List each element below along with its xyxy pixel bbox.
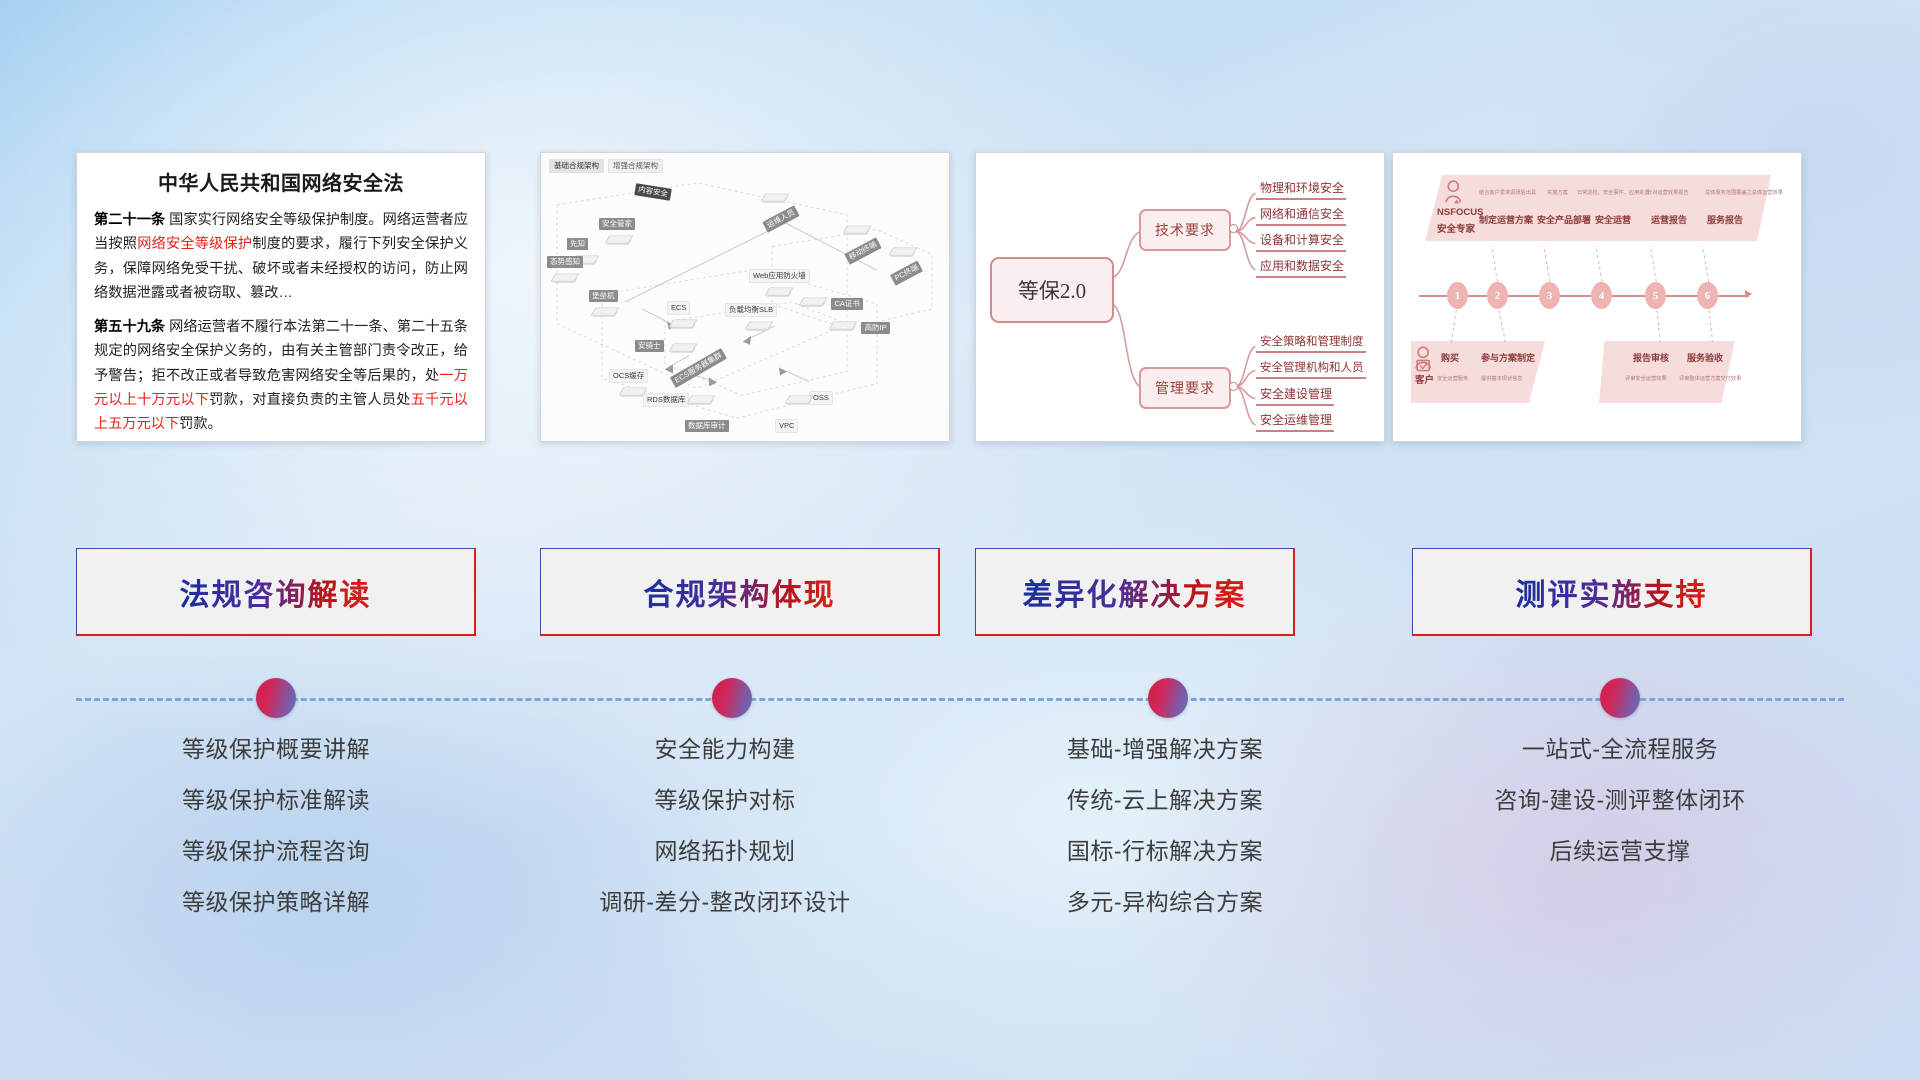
nsfocus-top-sub-5: 总体服务范围覆盖之总体运营效果 — [1705, 189, 1783, 196]
law-article-21-highlight: 网络安全等级保护 — [137, 236, 252, 252]
headline-label-2: 合规架构体现 — [644, 570, 836, 614]
arch-node-security-butler: 安全管家 — [599, 213, 635, 250]
arch-node-ops-personnel: 运维人员 — [763, 191, 799, 226]
nsfocus-bottom-role: 客户 — [1415, 372, 1434, 386]
nsfocus-step-4: 4 — [1591, 282, 1612, 309]
nsfocus-top-sub-3: 日常巡检、安全事件、应用处置 — [1577, 189, 1650, 196]
arch-node-ecs: ECS — [667, 297, 697, 334]
arch-node-bastion-host: 堡垒机 — [589, 285, 619, 322]
list-item: 多元-异构综合方案 — [945, 891, 1385, 914]
arch-node-rds: RDS数据库 — [643, 389, 715, 410]
headline-box-regulation-consulting[interactable]: 法规咨询解读 — [76, 548, 476, 636]
nsfocus-top-sub-4: 针对运营效果报告 — [1647, 189, 1689, 196]
list-item: 等级保护策略详解 — [56, 891, 496, 914]
mindmap-leaf-ops-mgmt: 安全运维管理 — [1256, 411, 1334, 432]
nsfocus-top-caption-4: 运营报告 — [1651, 213, 1687, 226]
nsfocus-top-role-line2: 安全专家 — [1437, 221, 1475, 235]
arch-node-pc-terminal: PC终端 — [891, 245, 922, 280]
nsfocus-top-caption-3: 安全运营 — [1595, 213, 1631, 226]
arch-node-oss: OSS — [809, 387, 833, 410]
nsfocus-bottom-caption-3: 报告审核 — [1633, 351, 1669, 364]
detail-column-3: 基础-增强解决方案 传统-云上解决方案 国标-行标解决方案 多元-异构综合方案 — [945, 738, 1385, 942]
headline-label-4: 测评实施支持 — [1516, 570, 1708, 614]
nsfocus-bottom-sub-4: 评审整体运营方案交付效果 — [1679, 375, 1741, 382]
mindmap-leaf-org-personnel: 安全管理机构和人员 — [1256, 359, 1366, 379]
list-item: 国标-行标解决方案 — [945, 840, 1385, 863]
mindmap-leaf-policy-system: 安全策略和管理制度 — [1256, 333, 1366, 353]
list-item: 等级保护对标 — [505, 789, 945, 812]
headline-box-compliance-architecture[interactable]: 合规架构体现 — [540, 548, 940, 636]
detail-column-4: 一站式-全流程服务 咨询-建设-测评整体闭环 后续运营支撑 — [1400, 738, 1840, 891]
list-item: 基础-增强解决方案 — [945, 738, 1385, 761]
nsfocus-step-3: 3 — [1539, 282, 1560, 309]
law-title: 中华人民共和国网络安全法 — [94, 167, 468, 196]
law-paragraph-59: 第五十九条 网络运营者不履行本法第二十一条、第二十五条规定的网络安全保护义务的，… — [94, 315, 468, 437]
mindmap-branch-technical: 技术要求 — [1139, 209, 1231, 251]
list-item: 等级保护流程咨询 — [56, 840, 496, 863]
arch-node-anti-ddos-ip: 高防IP — [831, 319, 890, 337]
mindmap-leaf-device-compute: 设备和计算安全 — [1256, 231, 1346, 252]
nsfocus-timeline: NSFOCUS 安全专家 客户 结合客户需求调研后出具 制定运营方案 实施方案 … — [1393, 153, 1801, 441]
list-item: 调研-差分-整改闭环设计 — [505, 891, 945, 914]
nsfocus-step-1: 1 — [1447, 282, 1468, 309]
headline-label-1: 法规咨询解读 — [180, 570, 372, 614]
law-article-59-text-3: 罚款。 — [179, 416, 222, 432]
nsfocus-bottom-caption-1: 购买 — [1441, 351, 1459, 364]
list-item: 等级保护概要讲解 — [56, 738, 496, 761]
arch-node-content-security: 内容安全 — [635, 181, 671, 199]
mindmap-leaf-network-comm: 网络和通信安全 — [1256, 205, 1346, 226]
nsfocus-top-caption-5: 服务报告 — [1707, 213, 1743, 226]
law-paragraph-21: 第二十一条 国家实行网络安全等级保护制度。网络运营者应当按照网络安全等级保护制度… — [94, 208, 468, 306]
law-article-21-label: 第二十一条 — [94, 212, 165, 228]
card-cybersecurity-law[interactable]: 中华人民共和国网络安全法 第二十一条 国家实行网络安全等级保护制度。网络运营者应… — [76, 152, 486, 442]
mindmap-collapse-dot-management[interactable] — [1229, 382, 1238, 391]
list-item: 后续运营支撑 — [1400, 840, 1840, 863]
list-item: 安全能力构建 — [505, 738, 945, 761]
detail-column-1: 等级保护概要讲解 等级保护标准解读 等级保护流程咨询 等级保护策略详解 — [56, 738, 496, 942]
detail-lists-row: 等级保护概要讲解 等级保护标准解读 等级保护流程咨询 等级保护策略详解 安全能力… — [0, 738, 1920, 958]
architecture-tab-enhanced[interactable]: 增强合规架构 — [608, 159, 663, 173]
nsfocus-top-sub-1: 结合客户需求调研后出具 — [1479, 189, 1536, 196]
arch-node-db-audit: 数据库审计 — [685, 415, 729, 433]
mindmap-leaf-construction-mgmt: 安全建设管理 — [1256, 385, 1334, 406]
arch-node-slb: 负载均衡SLB — [725, 299, 777, 336]
nsfocus-bottom-sub-2: 提供基本现状信息 — [1481, 375, 1523, 382]
arch-node-ca-certificate: CA证书 — [801, 295, 863, 313]
list-item: 一站式-全流程服务 — [1400, 738, 1840, 761]
law-article-59-text-2: 罚款，对直接负责的主管人员处 — [209, 392, 410, 408]
list-item: 咨询-建设-测评整体闭环 — [1400, 789, 1840, 812]
nsfocus-top-caption-2: 安全产品部署 — [1537, 213, 1591, 226]
nsfocus-bottom-sub-1: 安全运营服务 — [1437, 375, 1468, 382]
architecture-canvas: 内容安全 安全管家 先知 态势感知 堡垒机 — [547, 175, 943, 435]
list-item: 网络拓扑规划 — [505, 840, 945, 863]
nsfocus-top-sub-2: 实施方案 — [1547, 189, 1568, 196]
timeline-dot-4[interactable] — [1600, 678, 1640, 718]
mindmap-leaf-app-data: 应用和数据安全 — [1256, 257, 1346, 278]
timeline-dot-1[interactable] — [256, 678, 296, 718]
nsfocus-bottom-caption-4: 服务验收 — [1687, 351, 1723, 364]
nsfocus-top-caption-1: 制定运营方案 — [1479, 213, 1533, 226]
arch-node-vpc: VPC — [775, 415, 798, 433]
detail-column-2: 安全能力构建 等级保护对标 网络拓扑规划 调研-差分-整改闭环设计 — [505, 738, 945, 942]
timeline-dot-3[interactable] — [1148, 678, 1188, 718]
arch-node-situational-awareness: 态势感知 — [547, 251, 583, 288]
nsfocus-axis-arrow — [1745, 290, 1752, 298]
list-item: 等级保护标准解读 — [56, 789, 496, 812]
cards-row: 中华人民共和国网络安全法 第二十一条 国家实行网络安全等级保护制度。网络运营者应… — [0, 152, 1920, 444]
law-body: 中华人民共和国网络安全法 第二十一条 国家实行网络安全等级保护制度。网络运营者应… — [77, 153, 485, 441]
list-item: 传统-云上解决方案 — [945, 789, 1385, 812]
law-article-59-label: 第五十九条 — [94, 319, 165, 335]
arch-node-anqishi: 安骑士 — [635, 335, 697, 358]
timeline-dashed-line — [76, 698, 1844, 701]
architecture-tabs[interactable]: 基础合规架构 增强合规架构 — [549, 159, 663, 173]
headline-row: 法规咨询解读 合规架构体现 差异化解决方案 测评实施支持 — [0, 548, 1920, 640]
mindmap-branch-management: 管理要求 — [1139, 367, 1231, 409]
slide-canvas: 中华人民共和国网络安全法 第二十一条 国家实行网络安全等级保护制度。网络运营者应… — [0, 0, 1920, 1080]
card-nsfocus-service-flow[interactable]: NSFOCUS 安全专家 客户 结合客户需求调研后出具 制定运营方案 实施方案 … — [1392, 152, 1802, 442]
architecture-tab-basic[interactable]: 基础合规架构 — [549, 159, 604, 173]
timeline-row — [0, 660, 1920, 740]
mindmap: 等保2.0 技术要求 物理和环境安全 网络和通信安全 设备和计算安全 应用和数据… — [976, 153, 1384, 441]
nsfocus-bottom-caption-2: 参与方案制定 — [1481, 351, 1535, 364]
headline-box-assessment-support[interactable]: 测评实施支持 — [1412, 548, 1812, 636]
nsfocus-step-2: 2 — [1487, 282, 1508, 309]
nsfocus-step-6: 6 — [1697, 282, 1718, 309]
card-djcp-mindmap[interactable]: 等保2.0 技术要求 物理和环境安全 网络和通信安全 设备和计算安全 应用和数据… — [975, 152, 1385, 442]
card-compliance-architecture[interactable]: 基础合规架构 增强合规架构 — [540, 152, 950, 442]
arch-node-ecs-cluster: ECS服务器集群 — [669, 357, 728, 375]
nsfocus-step-5: 5 — [1645, 282, 1666, 309]
mindmap-root: 等保2.0 — [990, 257, 1114, 323]
nsfocus-top-role-line1: NSFOCUS — [1437, 207, 1483, 218]
arch-node-mobile-terminal: 移动终端 — [845, 223, 881, 258]
timeline-dot-2[interactable] — [712, 678, 752, 718]
mindmap-leaf-physical-env: 物理和环境安全 — [1256, 179, 1346, 200]
headline-label-3: 差异化解决方案 — [1023, 570, 1247, 614]
headline-box-differentiated-solution[interactable]: 差异化解决方案 — [975, 548, 1295, 636]
architecture-diagram: 基础合规架构 增强合规架构 — [541, 153, 949, 441]
mindmap-collapse-dot-technical[interactable] — [1229, 224, 1238, 233]
nsfocus-bottom-sub-3: 评审安全运营效果 — [1625, 375, 1667, 382]
